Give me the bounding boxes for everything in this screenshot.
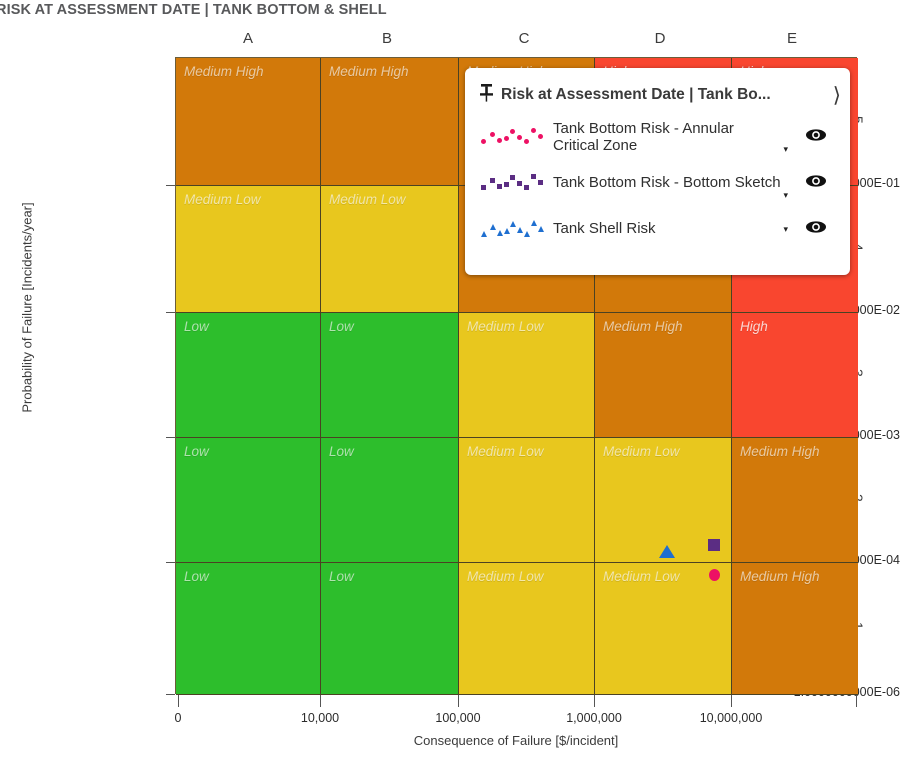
- risk-cell-label: Medium Low: [467, 569, 544, 584]
- x-tick-mark: [594, 695, 595, 707]
- risk-cell-label: Low: [329, 319, 354, 334]
- risk-cell-B2[interactable]: Low: [321, 438, 459, 563]
- legend-marker-swatch: [479, 215, 547, 243]
- x-tick-mark: [320, 695, 321, 707]
- risk-cell-E3[interactable]: High: [732, 313, 858, 438]
- risk-cell-label: Medium Low: [603, 569, 680, 584]
- risk-cell-A4[interactable]: Medium Low: [176, 186, 321, 313]
- y-tick-mark: [166, 312, 175, 313]
- risk-cell-label: Medium Low: [467, 444, 544, 459]
- legend-item[interactable]: Tank Bottom Risk - Annular Critical Zone…: [465, 114, 850, 160]
- column-header-B: B: [357, 30, 417, 47]
- risk-cell-label: Low: [329, 444, 354, 459]
- y-tick-mark: [166, 562, 175, 563]
- risk-cell-label: Medium High: [740, 444, 820, 459]
- x-axis-label: Consequence of Failure [$/incident]: [175, 733, 857, 748]
- x-tick-label: 10,000: [260, 711, 380, 725]
- x-tick-mark: [458, 695, 459, 707]
- risk-cell-A5[interactable]: Medium High: [176, 58, 321, 186]
- chevron-down-icon[interactable]: ▾: [781, 190, 796, 201]
- x-tick-mark: [731, 695, 732, 707]
- risk-cell-B5[interactable]: Medium High: [321, 58, 459, 186]
- data-point-triangle[interactable]: [659, 545, 675, 558]
- risk-cell-B3[interactable]: Low: [321, 313, 459, 438]
- risk-cell-label: Medium High: [603, 319, 683, 334]
- risk-cell-label: Medium Low: [184, 192, 261, 207]
- legend-header: Risk at Assessment Date | Tank Bo... ⟩: [465, 78, 850, 110]
- risk-cell-label: Medium High: [184, 64, 264, 79]
- risk-cell-label: High: [740, 319, 768, 334]
- column-header-C: C: [494, 30, 554, 47]
- page-title: RISK AT ASSESSMENT DATE | TANK BOTTOM & …: [0, 2, 387, 18]
- risk-cell-label: Medium Low: [329, 192, 406, 207]
- x-tick-label: 0: [118, 711, 238, 725]
- legend-item[interactable]: Tank Bottom Risk - Bottom Sketch▾: [465, 160, 850, 206]
- chevron-down-icon[interactable]: ▾: [781, 224, 796, 235]
- legend-items: Tank Bottom Risk - Annular Critical Zone…: [465, 114, 850, 252]
- x-tick-label: 1,000,000: [534, 711, 654, 725]
- risk-cell-E2[interactable]: Medium High: [732, 438, 858, 563]
- risk-cell-A1[interactable]: Low: [176, 563, 321, 695]
- risk-cell-C3[interactable]: Medium Low: [459, 313, 595, 438]
- x-tick-label: 10,000,000: [671, 711, 791, 725]
- data-point-square[interactable]: [708, 539, 720, 551]
- column-header-A: A: [218, 30, 278, 47]
- legend-item-label: Tank Bottom Risk - Bottom Sketch: [547, 174, 781, 191]
- risk-cell-C1[interactable]: Medium Low: [459, 563, 595, 695]
- risk-cell-label: Low: [184, 569, 209, 584]
- risk-cell-C2[interactable]: Medium Low: [459, 438, 595, 563]
- y-tick-mark: [166, 694, 175, 695]
- risk-cell-label: Medium High: [329, 64, 409, 79]
- chevron-right-icon[interactable]: ⟩: [833, 85, 841, 106]
- risk-cell-E1[interactable]: Medium High: [732, 563, 858, 695]
- risk-cell-label: Medium High: [740, 569, 820, 584]
- x-tick-mark: [178, 695, 179, 707]
- data-point-circle[interactable]: [709, 569, 720, 581]
- legend-title: Risk at Assessment Date | Tank Bo...: [501, 86, 828, 104]
- x-tick-label: 100,000: [398, 711, 518, 725]
- legend-marker-swatch: [479, 169, 547, 197]
- risk-cell-B1[interactable]: Low: [321, 563, 459, 695]
- legend-marker-swatch: [479, 123, 547, 151]
- eye-icon[interactable]: [796, 220, 836, 239]
- risk-cell-label: Medium Low: [603, 444, 680, 459]
- legend-item-label: Tank Bottom Risk - Annular Critical Zone: [547, 120, 781, 155]
- chevron-down-icon[interactable]: ▾: [781, 144, 796, 155]
- legend-item-label: Tank Shell Risk: [547, 220, 781, 237]
- risk-matrix-chart: RISK AT ASSESSMENT DATE | TANK BOTTOM & …: [0, 0, 900, 763]
- eye-icon[interactable]: [796, 128, 836, 147]
- risk-cell-A3[interactable]: Low: [176, 313, 321, 438]
- y-tick-mark: [166, 437, 175, 438]
- column-header-D: D: [630, 30, 690, 47]
- risk-cell-D3[interactable]: Medium High: [595, 313, 732, 438]
- risk-cell-label: Low: [184, 444, 209, 459]
- y-tick-mark: [166, 185, 175, 186]
- eye-icon[interactable]: [796, 174, 836, 193]
- legend-item[interactable]: Tank Shell Risk▾: [465, 206, 850, 252]
- x-tick-mark: [856, 695, 857, 707]
- column-header-E: E: [762, 30, 822, 47]
- risk-cell-A2[interactable]: Low: [176, 438, 321, 563]
- risk-cell-label: Low: [184, 319, 209, 334]
- legend-panel[interactable]: Risk at Assessment Date | Tank Bo... ⟩ T…: [465, 68, 850, 275]
- risk-cell-B4[interactable]: Medium Low: [321, 186, 459, 313]
- risk-cell-label: Low: [329, 569, 354, 584]
- pin-icon[interactable]: [479, 83, 494, 107]
- y-axis-label: Probability of Failure [Incidents/year]: [20, 188, 35, 428]
- risk-cell-D1[interactable]: Medium Low: [595, 563, 732, 695]
- risk-cell-label: Medium Low: [467, 319, 544, 334]
